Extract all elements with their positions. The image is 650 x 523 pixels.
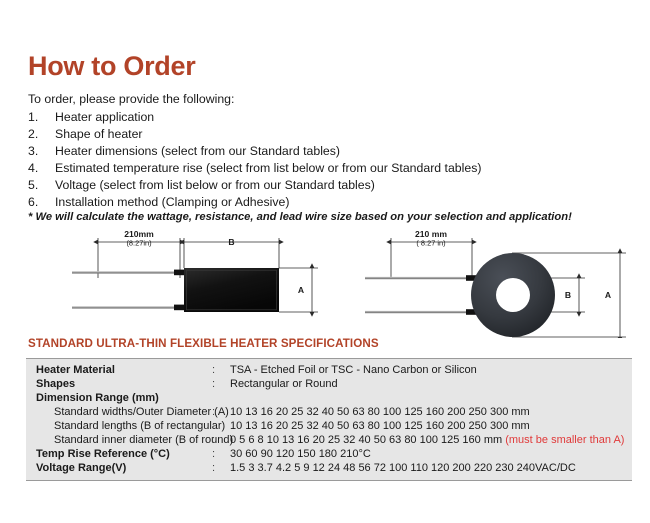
list-item: 6. Installation method (Clamping or Adhe…	[28, 194, 628, 211]
spec-table: Heater Material : TSA - Etched Foil or T…	[26, 358, 632, 481]
row-value: 1.5 3 3.7 4.2 5 9 12 24 48 56 72 100 110…	[230, 461, 632, 475]
list-item-label: Heater application	[55, 109, 154, 126]
row-value-text: 0 5 6 8 10 13 16 20 25 32 40 50 63 80 10…	[230, 434, 505, 446]
rect-lead-length-in: (8.27in)	[126, 239, 151, 248]
round-outer-diameter-label: A	[605, 290, 611, 300]
row-colon: :	[212, 363, 230, 377]
list-item-label: Voltage (select from list below or from …	[55, 177, 375, 194]
rect-width-label: B	[228, 237, 234, 247]
list-item-number: 1.	[28, 109, 55, 126]
list-item-number: 3.	[28, 143, 55, 160]
list-item: 4. Estimated temperature rise (select fr…	[28, 160, 628, 177]
heater-diagram-figure: 210mm (8.27in) B A	[60, 228, 640, 338]
row-colon: :	[212, 447, 230, 461]
row-colon: :	[212, 419, 230, 433]
rect-height-label: A	[298, 285, 304, 295]
row-colon: :	[212, 405, 230, 419]
round-lead-length-mm: 210 mm	[415, 229, 447, 239]
table-row: Standard widths/Outer Diameter (A) : 10 …	[26, 405, 632, 419]
table-row: Standard lengths (B of rectangular) : 10…	[26, 419, 632, 433]
round-inner-diameter-label: B	[565, 290, 571, 300]
table-row: Temp Rise Reference (°C) : 30 60 90 120 …	[26, 447, 632, 461]
row-label: Dimension Range (mm)	[26, 391, 212, 405]
list-item-number: 2.	[28, 126, 55, 143]
table-row: Standard inner diameter (B of round) : 0…	[26, 433, 632, 447]
list-item-number: 6.	[28, 194, 55, 211]
row-value: Rectangular or Round	[230, 377, 632, 391]
row-colon: :	[212, 377, 230, 391]
table-row: Voltage Range(V) : 1.5 3 3.7 4.2 5 9 12 …	[26, 461, 632, 475]
row-label: Standard inner diameter (B of round)	[26, 433, 212, 447]
list-item-label: Estimated temperature rise (select from …	[55, 160, 481, 177]
order-steps-list: 1. Heater application 2. Shape of heater…	[28, 109, 628, 211]
row-label: Heater Material	[26, 363, 212, 377]
row-label: Voltage Range(V)	[26, 461, 212, 475]
row-value: 10 13 16 20 25 32 40 50 63 80 100 125 16…	[230, 419, 632, 433]
row-value: TSA - Etched Foil or TSC - Nano Carbon o…	[230, 363, 632, 377]
row-label: Standard widths/Outer Diameter (A)	[26, 405, 212, 419]
list-item: 5. Voltage (select from list below or fr…	[28, 177, 628, 194]
table-row: Dimension Range (mm)	[26, 391, 632, 405]
round-lead-length-in: ( 8.27 in)	[416, 239, 445, 248]
list-item: 2. Shape of heater	[28, 126, 628, 143]
list-item: 3. Heater dimensions (select from our St…	[28, 143, 628, 160]
page-title: How to Order	[28, 53, 195, 80]
row-colon: :	[212, 433, 230, 447]
table-row: Heater Material : TSA - Etched Foil or T…	[26, 363, 632, 377]
list-item-number: 4.	[28, 160, 55, 177]
intro-text: To order, please provide the following:	[28, 92, 234, 106]
row-label: Shapes	[26, 377, 212, 391]
rect-lead-length-mm: 210mm	[124, 229, 154, 239]
row-label: Temp Rise Reference (°C)	[26, 447, 212, 461]
list-item-number: 5.	[28, 177, 55, 194]
footnote: * We will calculate the wattage, resista…	[28, 211, 572, 223]
list-item-label: Heater dimensions (select from our Stand…	[55, 143, 340, 160]
rectangular-heater-diagram: 210mm (8.27in) B A	[72, 229, 318, 312]
row-value: 0 5 6 8 10 13 16 20 25 32 40 50 63 80 10…	[230, 433, 632, 447]
row-label: Standard lengths (B of rectangular)	[26, 419, 212, 433]
row-value: 30 60 90 120 150 180 210°C	[230, 447, 632, 461]
list-item: 1. Heater application	[28, 109, 628, 126]
spec-section-heading: STANDARD ULTRA-THIN FLEXIBLE HEATER SPEC…	[28, 337, 379, 350]
row-colon: :	[212, 461, 230, 475]
round-heater-diagram: 210 mm ( 8.27 in) B A	[365, 229, 626, 337]
row-value: 10 13 16 20 25 32 40 50 63 80 100 125 16…	[230, 405, 632, 419]
list-item-label: Shape of heater	[55, 126, 143, 143]
table-row: Shapes : Rectangular or Round	[26, 377, 632, 391]
list-item-label: Installation method (Clamping or Adhesiv…	[55, 194, 289, 211]
row-value-note: (must be smaller than A)	[505, 434, 624, 446]
